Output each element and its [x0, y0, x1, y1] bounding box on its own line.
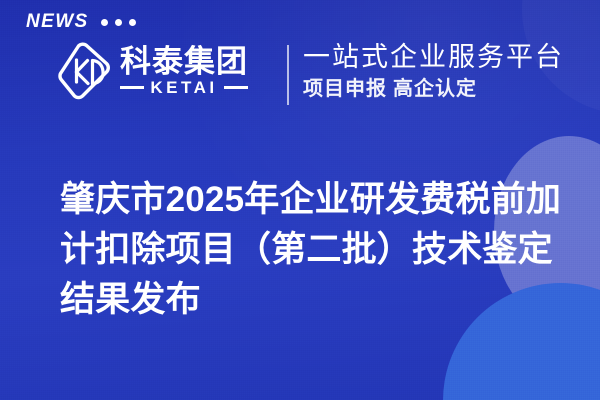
brand-wordmark: 科泰集团 KETAI [120, 46, 248, 97]
tagline-secondary: 项目申报 高企认定 [303, 77, 564, 101]
news-banner: NEWS 科泰集团 KETAI [0, 0, 600, 400]
wordmark-rule-left [120, 86, 144, 89]
wordmark-rule-right [224, 86, 248, 89]
tagline-block: 一站式企业服务平台 项目申报 高企认定 [303, 41, 564, 101]
ketai-diamond-kd-logo-icon [56, 40, 112, 102]
page-title: 肇庆市2025年企业研发费税前加计扣除项目（第二批）技术鉴定结果发布 [60, 175, 572, 324]
brand-lockup: 科泰集团 KETAI [56, 40, 248, 102]
tagline-primary: 一站式企业服务平台 [303, 41, 564, 74]
news-eyebrow: NEWS [26, 12, 136, 31]
news-eyebrow-label: NEWS [26, 12, 89, 31]
dot-icon [115, 19, 122, 26]
dot-icon [129, 19, 136, 26]
dot-icon [101, 19, 108, 26]
news-eyebrow-dots [101, 17, 136, 26]
brand-name-en-row: KETAI [120, 79, 248, 96]
brand-name-cn: 科泰集团 [120, 46, 248, 78]
lockup-divider [287, 45, 289, 105]
brand-name-en: KETAI [150, 79, 217, 96]
